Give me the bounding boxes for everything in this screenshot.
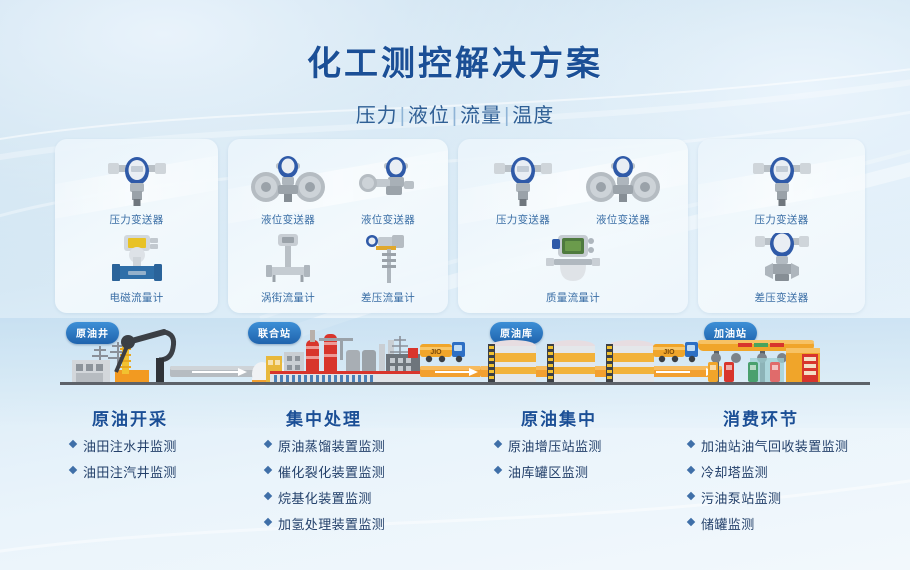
subtitle-separator: |: [452, 105, 458, 127]
card-row: 压力变送器: [59, 148, 214, 227]
stage-title-2: 集中处理: [286, 405, 362, 430]
list-item-label: 烷基化装置监测: [278, 488, 372, 507]
monitoring-list-1: 油田注水井监测 油田注汽井监测: [70, 436, 177, 488]
bullet-diamond-icon: [264, 466, 272, 474]
page-title: 化工测控解决方案: [0, 36, 910, 85]
stage-title-1: 原油开采: [92, 405, 168, 430]
list-item-label: 储罐监测: [701, 514, 755, 533]
list-item-label: 油库罐区监测: [508, 462, 588, 481]
monitoring-list-2: 原油蒸馏装置监测 催化裂化装置监测 烷基化装置监测 加氢处理装置监测: [265, 436, 385, 540]
list-item[interactable]: 污油泵站监测: [688, 488, 848, 507]
bullet-diamond-icon: [687, 440, 695, 448]
subtitle-part-temperature: 温度: [512, 105, 554, 127]
card-row: 差压变送器: [702, 227, 861, 306]
bullet-diamond-icon: [494, 466, 502, 474]
product-label: 压力变送器: [496, 212, 550, 227]
bullet-diamond-icon: [264, 492, 272, 500]
subtitle-part-flow: 流量: [460, 105, 502, 127]
bullet-diamond-icon: [69, 440, 77, 448]
card-row: 压力变送器: [702, 148, 861, 227]
product-card-1[interactable]: 压力变送器: [55, 139, 218, 313]
product-item[interactable]: 液位变送器: [238, 148, 338, 227]
stage-title-4: 消费环节: [723, 405, 799, 430]
list-item-label: 催化裂化装置监测: [278, 462, 385, 481]
list-item-label: 加氢处理装置监测: [278, 514, 385, 533]
svg-text:JIO: JIO: [663, 349, 675, 356]
tanker-truck-icon: JIO: [420, 342, 465, 362]
product-label: 差压变送器: [755, 290, 809, 305]
product-item[interactable]: 液位变送器: [573, 148, 673, 227]
monitoring-list-4: 加油站油气回收装置监测 冷却塔监测 污油泵站监测 储罐监测: [688, 436, 848, 540]
card-row: 质量流量计: [462, 227, 684, 306]
product-card-grid: 压力变送器: [55, 139, 855, 313]
product-label: 涡街流量计: [261, 290, 315, 305]
bullet-diamond-icon: [687, 518, 695, 526]
list-item[interactable]: 催化裂化装置监测: [265, 462, 385, 481]
product-item[interactable]: 差压流量计: [338, 227, 438, 306]
subtitle-separator: |: [400, 105, 406, 127]
subtitle-part-level: 液位: [408, 105, 450, 127]
product-card-4[interactable]: 压力变送器: [698, 139, 865, 313]
stage-title-3: 原油集中: [521, 405, 597, 430]
card-row: 液位变送器 液位变送器: [232, 148, 444, 227]
list-item[interactable]: 烷基化装置监测: [265, 488, 385, 507]
bullet-diamond-icon: [687, 492, 695, 500]
product-label: 液位变送器: [361, 212, 415, 227]
product-item[interactable]: 压力变送器: [473, 148, 573, 227]
bullet-diamond-icon: [69, 466, 77, 474]
electromagnetic-flowmeter-icon: [104, 233, 170, 285]
bullet-diamond-icon: [494, 440, 502, 448]
level-transmitter-flange-icon: [248, 155, 328, 207]
level-transmitter-single-icon: [352, 155, 424, 207]
product-label: 电磁流量计: [110, 290, 164, 305]
product-label: 差压流量计: [361, 290, 415, 305]
card-row: 压力变送器: [462, 148, 684, 227]
product-item[interactable]: 电磁流量计: [87, 227, 187, 306]
level-transmitter-flange-icon: [583, 155, 663, 207]
list-item-label: 污油泵站监测: [701, 488, 781, 507]
list-item-label: 加油站油气回收装置监测: [701, 436, 848, 455]
product-label: 质量流量计: [546, 290, 600, 305]
product-item[interactable]: 压力变送器: [732, 148, 832, 227]
card-row: 电磁流量计: [59, 227, 214, 306]
pressure-transmitter-icon: [104, 155, 170, 207]
list-item[interactable]: 加油站油气回收装置监测: [688, 436, 848, 455]
list-item[interactable]: 油田注汽井监测: [70, 462, 177, 481]
subtitle-separator: |: [504, 105, 510, 127]
vortex-flowmeter-icon: [258, 233, 318, 285]
product-item[interactable]: 差压变送器: [732, 227, 832, 306]
differential-pressure-flowmeter-icon: [358, 233, 418, 285]
list-item-label: 原油蒸馏装置监测: [278, 436, 385, 455]
list-item[interactable]: 油田注水井监测: [70, 436, 177, 455]
pressure-transmitter-icon: [490, 155, 556, 207]
pressure-transmitter-icon: [749, 155, 815, 207]
mass-flowmeter-icon: [538, 233, 608, 285]
differential-pressure-transmitter-icon: [749, 233, 815, 285]
list-item[interactable]: 储罐监测: [688, 514, 848, 533]
card-row: 涡街流量计 差压流量计: [232, 227, 444, 306]
list-item-label: 油田注水井监测: [83, 436, 177, 455]
bullet-diamond-icon: [687, 466, 695, 474]
bullet-diamond-icon: [264, 440, 272, 448]
subtitle-part-pressure: 压力: [356, 105, 398, 127]
list-item[interactable]: 原油蒸馏装置监测: [265, 436, 385, 455]
list-item[interactable]: 加氢处理装置监测: [265, 514, 385, 533]
product-item[interactable]: 质量流量计: [523, 227, 623, 306]
monitoring-lists: 油田注水井监测 油田注汽井监测 原油蒸馏装置监测 催化裂化装置监测 烷基化装置监…: [0, 436, 910, 536]
product-card-3[interactable]: 压力变送器: [458, 139, 688, 313]
list-item[interactable]: 原油增压站监测: [495, 436, 602, 455]
page-header: 化工测控解决方案 压力|液位|流量|温度: [0, 0, 910, 128]
list-item-label: 冷却塔监测: [701, 462, 768, 481]
product-card-2[interactable]: 液位变送器 液位变送器: [228, 139, 448, 313]
product-item[interactable]: 涡街流量计: [238, 227, 338, 306]
product-item[interactable]: 液位变送器: [338, 148, 438, 227]
list-item-label: 油田注汽井监测: [83, 462, 177, 481]
product-label: 压力变送器: [110, 212, 164, 227]
monitoring-list-3: 原油增压站监测 油库罐区监测: [495, 436, 602, 488]
bullet-diamond-icon: [264, 518, 272, 526]
product-label: 液位变送器: [261, 212, 315, 227]
product-label: 液位变送器: [596, 212, 650, 227]
list-item[interactable]: 冷却塔监测: [688, 462, 848, 481]
product-label: 压力变送器: [755, 212, 809, 227]
list-item[interactable]: 油库罐区监测: [495, 462, 602, 481]
product-item[interactable]: 压力变送器: [87, 148, 187, 227]
svg-text:JIO: JIO: [430, 349, 442, 356]
list-item-label: 原油增压站监测: [508, 436, 602, 455]
subtitle: 压力|液位|流量|温度: [0, 99, 910, 128]
